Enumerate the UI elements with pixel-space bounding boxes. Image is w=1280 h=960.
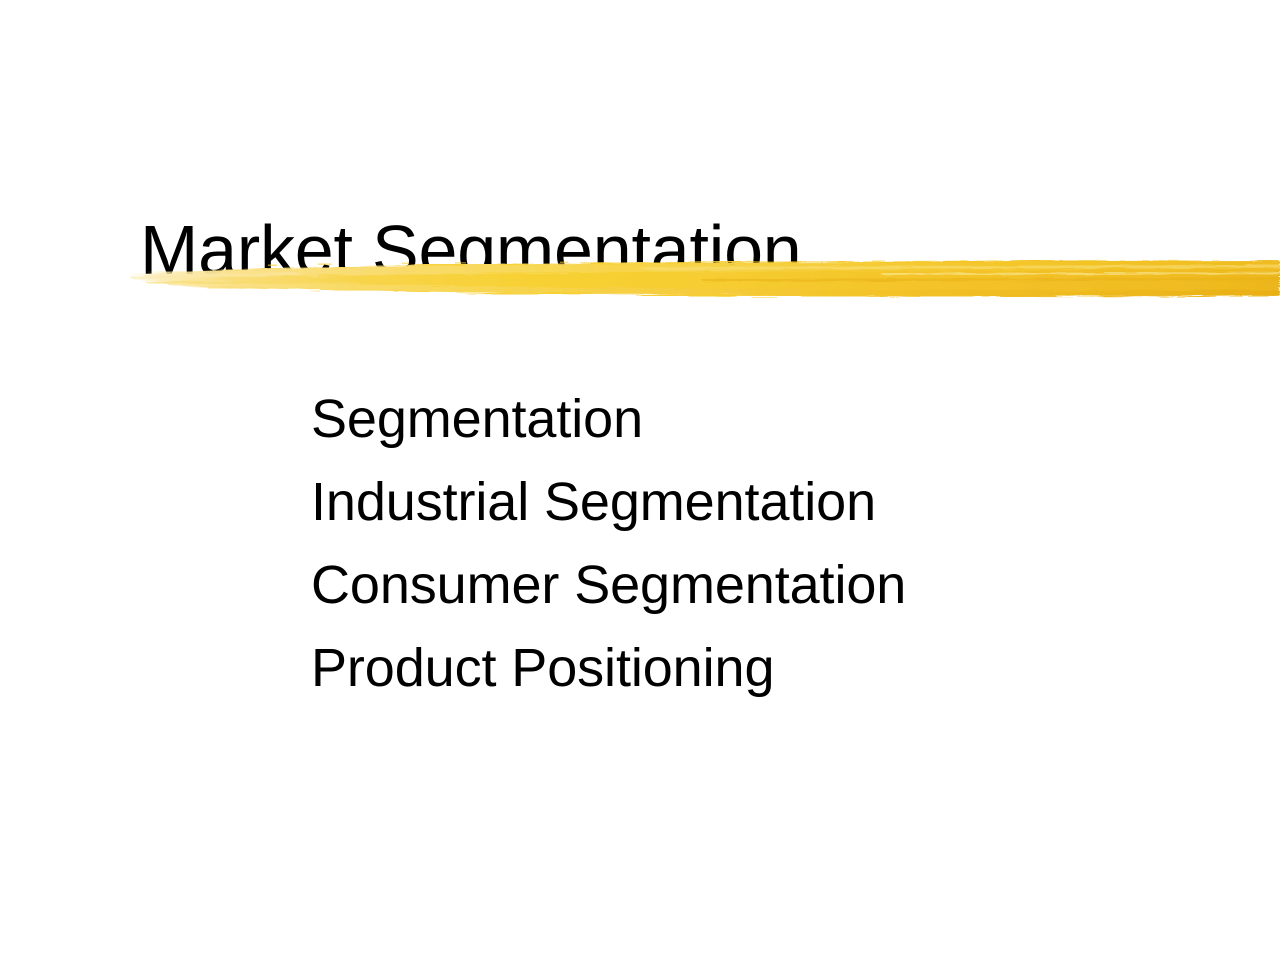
list-item: Consumer Segmentation bbox=[311, 544, 1171, 627]
list-item: Segmentation bbox=[311, 378, 1171, 461]
slide-body: Segmentation Industrial Segmentation Con… bbox=[311, 378, 1171, 710]
slide-title: Market Segmentation bbox=[140, 215, 1140, 285]
list-item: Product Positioning bbox=[311, 627, 1171, 710]
list-item: Industrial Segmentation bbox=[311, 461, 1171, 544]
presentation-slide: Market Segmentation bbox=[0, 0, 1280, 960]
